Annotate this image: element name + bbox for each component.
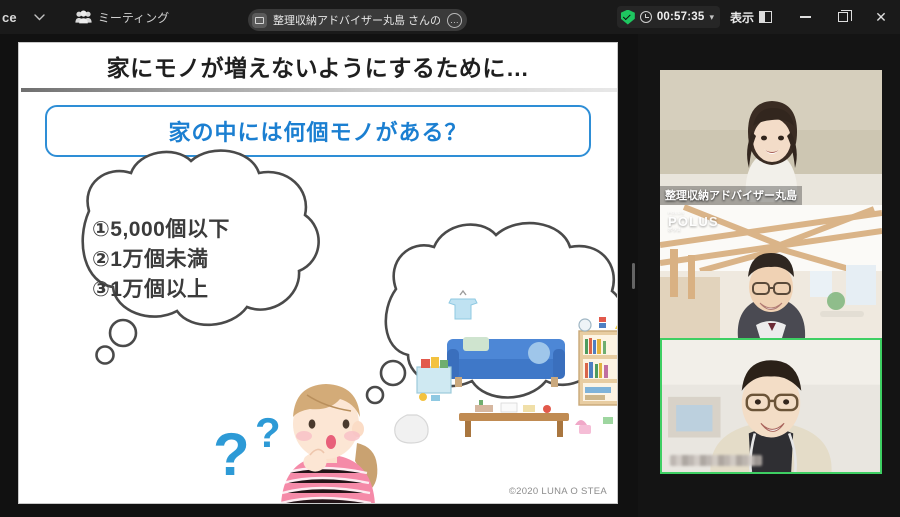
- view-label: 表示: [730, 9, 754, 26]
- app-name-label: ce: [0, 10, 17, 25]
- question-mark-icons: ? ?: [213, 409, 281, 488]
- video-tile[interactable]: 整理収納アドバイザー丸島: [660, 70, 882, 205]
- layout-icon: [759, 11, 772, 23]
- screen-share-indicator[interactable]: 整理収納アドバイザー丸島 さんの …: [248, 9, 467, 31]
- chevron-down-icon[interactable]: ▾: [709, 12, 714, 23]
- titlebar-right: 00:57:35 ▾ 表示 ✕: [617, 0, 900, 34]
- svg-text:?: ?: [213, 421, 250, 488]
- polus-watermark: POLUSPOLUSポラス: [668, 211, 719, 232]
- video-tile[interactable]: POLUSPOLUSポラス: [660, 205, 882, 338]
- timer-value: 00:57:35: [657, 11, 705, 23]
- meeting-window: ce ミーティング 整理収: [0, 0, 900, 517]
- titlebar: ce ミーティング 整理収: [0, 0, 900, 34]
- minimize-button[interactable]: [786, 0, 824, 34]
- meeting-tab-label: ミーティング: [98, 9, 169, 26]
- chevron-down-icon[interactable]: [27, 4, 53, 30]
- list-item: ②1万個未満: [92, 245, 230, 275]
- participant-video-3: [662, 340, 880, 472]
- answer-list: ①5,000個以下 ②1万個未満 ③1万個以上: [92, 215, 230, 304]
- restore-icon: [838, 12, 848, 22]
- toy-box-icon: [417, 357, 451, 401]
- list-item: ③1万個以上: [92, 275, 230, 305]
- floor-toys-icon: [575, 417, 613, 434]
- close-button[interactable]: ✕: [862, 0, 900, 34]
- video-tile-active-speaker[interactable]: [660, 338, 882, 474]
- presentation-slide[interactable]: 家にモノが増えないようにするために… 家の中には何個モノがある？: [18, 42, 618, 504]
- copyright-notice: ©2020 LUNA O STEA: [509, 486, 607, 497]
- view-button[interactable]: 表示: [730, 9, 772, 26]
- panel-resize-handle[interactable]: [632, 263, 635, 289]
- restore-button[interactable]: [824, 0, 862, 34]
- meeting-tab[interactable]: ミーティング: [75, 9, 169, 26]
- video-panel: 整理収納アドバイザー丸島: [638, 34, 900, 517]
- shared-screen-stage: 家にモノが増えないようにするために… 家の中には何個モノがある？: [0, 34, 628, 517]
- people-icon: [75, 10, 91, 24]
- low-table-icon: [459, 400, 569, 437]
- participant-video-1: [660, 70, 882, 205]
- screen-share-label: 整理収納アドバイザー丸島 さんの: [273, 12, 441, 28]
- beanbag-icon: [395, 415, 428, 443]
- list-item: ①5,000個以下: [92, 215, 230, 245]
- shield-check-icon: [621, 10, 635, 25]
- participant-name-blurred: [670, 455, 762, 466]
- meeting-timer[interactable]: 00:57:35 ▾: [617, 6, 720, 28]
- thinking-girl-illustration: [281, 384, 377, 504]
- minimize-icon: [800, 16, 811, 17]
- screen-share-icon: [252, 13, 267, 28]
- close-icon: ✕: [875, 10, 887, 24]
- titlebar-left: ce ミーティング: [0, 4, 169, 30]
- more-options-icon[interactable]: …: [447, 13, 462, 28]
- clock-icon: [640, 11, 652, 23]
- svg-text:?: ?: [255, 409, 281, 456]
- panel-divider[interactable]: [628, 34, 638, 517]
- participant-name-label: 整理収納アドバイザー丸島: [660, 186, 802, 205]
